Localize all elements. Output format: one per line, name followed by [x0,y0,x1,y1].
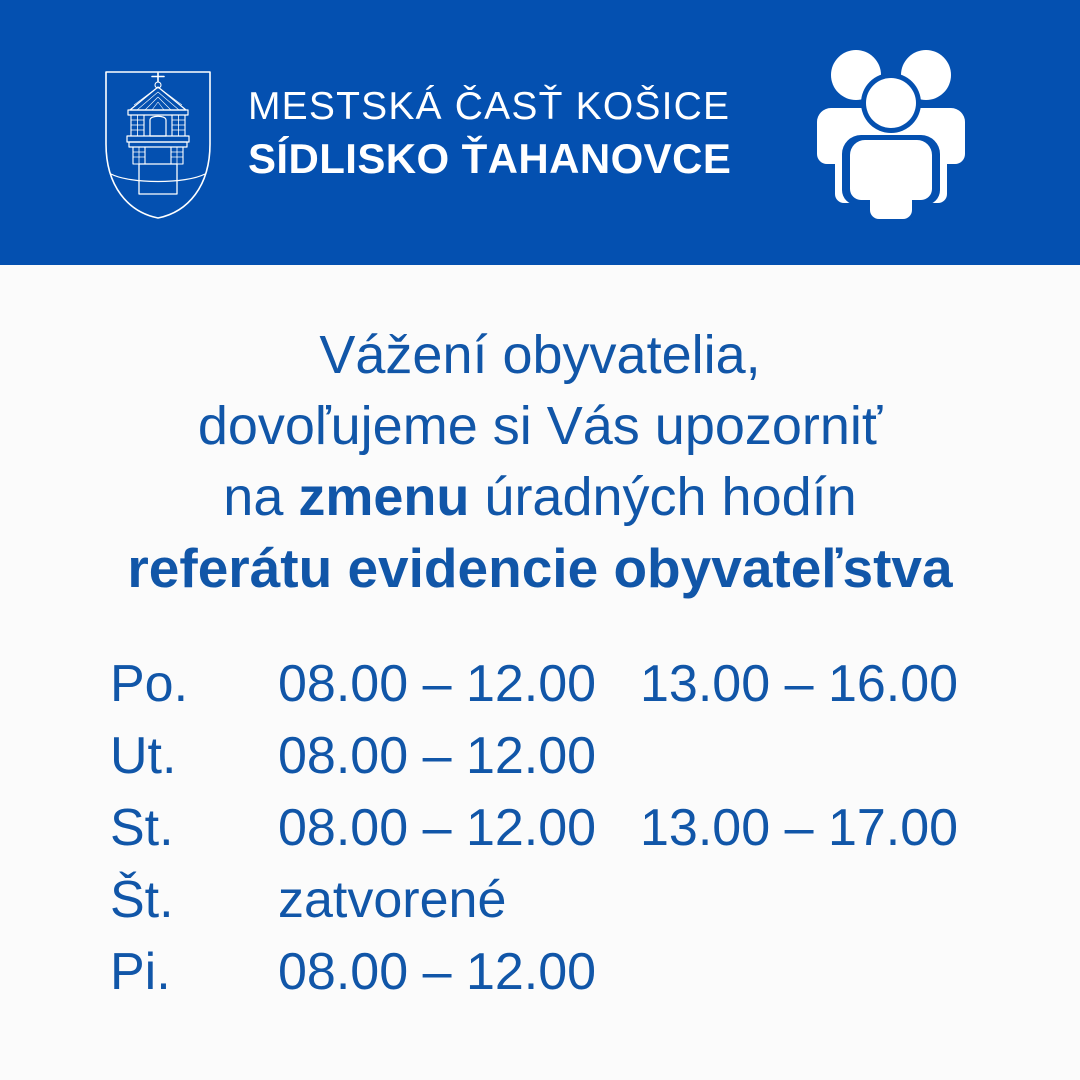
day-label: St. [110,792,278,864]
table-row: Pi. 08.00 – 12.00 [110,936,1010,1008]
coat-of-arms-icon [104,70,212,220]
message-line-1: Vážení obyvatelia, [0,320,1080,391]
org-title-line2: SÍDLISKO ŤAHANOVCE [248,132,808,186]
morning-hours: 08.00 – 12.00 [278,648,640,720]
morning-hours: 08.00 – 12.00 [278,720,640,792]
day-label: Po. [110,648,278,720]
morning-hours: zatvorené [278,864,640,936]
table-row: Ut. 08.00 – 12.00 [110,720,1010,792]
office-hours-table: Po. 08.00 – 12.00 13.00 – 16.00 Ut. 08.0… [110,648,1010,1008]
morning-hours: 08.00 – 12.00 [278,792,640,864]
afternoon-hours: 13.00 – 16.00 [640,648,1010,720]
message-line-4: referátu evidencie obyvateľstva [0,533,1080,604]
morning-hours: 08.00 – 12.00 [278,936,640,1008]
org-title-line1: MESTSKÁ ČASŤ KOŠICE [248,82,808,132]
table-row: Št. zatvorené [110,864,1010,936]
group-of-people-icon [815,46,967,221]
organization-title-group: MESTSKÁ ČASŤ KOŠICE SÍDLISKO ŤAHANOVCE [248,82,808,186]
header-band: MESTSKÁ ČASŤ KOŠICE SÍDLISKO ŤAHANOVCE [0,0,1080,265]
table-row: Po. 08.00 – 12.00 13.00 – 16.00 [110,648,1010,720]
message-line-2: dovoľujeme si Vás upozorniť [0,391,1080,462]
message-line-3-suffix: úradných hodín [469,467,856,527]
day-label: Pi. [110,936,278,1008]
day-label: Št. [110,864,278,936]
poster-canvas: MESTSKÁ ČASŤ KOŠICE SÍDLISKO ŤAHANOVCE [0,0,1080,1080]
message-line-3-emphasis: zmenu [298,467,469,527]
afternoon-hours: 13.00 – 17.00 [640,792,1010,864]
announcement-message: Vážení obyvatelia, dovoľujeme si Vás upo… [0,320,1080,604]
table-row: St. 08.00 – 12.00 13.00 – 17.00 [110,792,1010,864]
message-line-3-prefix: na [223,467,298,527]
day-label: Ut. [110,720,278,792]
message-line-3: na zmenu úradných hodín [0,462,1080,533]
